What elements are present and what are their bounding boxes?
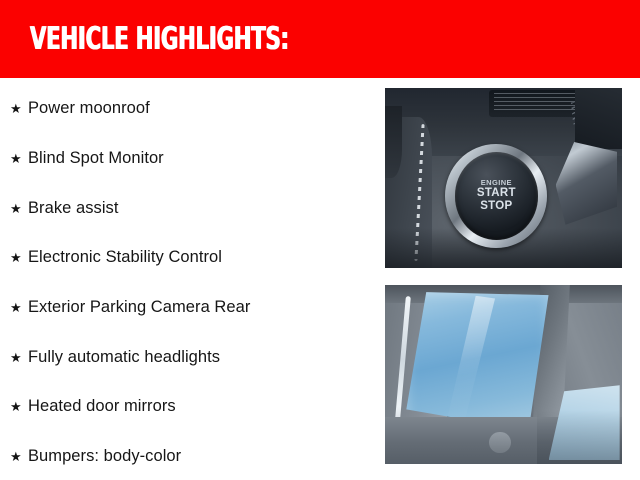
- list-item-label: Blind Spot Monitor: [28, 148, 164, 168]
- vehicle-highlights-list: ★ Power moonroof ★ Blind Spot Monitor ★ …: [0, 78, 385, 480]
- button-label-start: START: [477, 187, 516, 200]
- list-item: ★ Electronic Stability Control: [10, 246, 222, 268]
- list-item-label: Bumpers: body-color: [28, 446, 181, 466]
- list-item-label: Power moonroof: [28, 98, 150, 118]
- list-item: ★ Heated door mirrors: [10, 395, 176, 417]
- star-bullet-icon: ★: [10, 152, 28, 165]
- star-bullet-icon: ★: [10, 251, 28, 264]
- list-item-label: Brake assist: [28, 198, 118, 218]
- list-item: ★ Exterior Parking Camera Rear: [10, 296, 250, 318]
- panel-shadow: [537, 410, 622, 464]
- star-bullet-icon: ★: [10, 400, 28, 413]
- button-label-engine: ENGINE: [481, 178, 512, 187]
- list-item-label: Exterior Parking Camera Rear: [28, 297, 250, 317]
- star-bullet-icon: ★: [10, 351, 28, 364]
- button-label-stop: STOP: [480, 200, 512, 213]
- star-bullet-icon: ★: [10, 301, 28, 314]
- dashboard-right-shadow: [575, 88, 622, 149]
- list-item-label: Heated door mirrors: [28, 396, 176, 416]
- photo-moonroof-interior: [385, 285, 622, 464]
- photo-content: ENGINE START STOP: [385, 88, 622, 268]
- list-item: ★ Power moonroof: [10, 97, 150, 119]
- header-banner: VEHICLE HIGHLIGHTS:: [0, 0, 640, 78]
- engine-start-stop-button[interactable]: ENGINE START STOP: [455, 152, 539, 240]
- list-item: ★ Blind Spot Monitor: [10, 147, 164, 169]
- star-bullet-icon: ★: [10, 102, 28, 115]
- star-bullet-icon: ★: [10, 202, 28, 215]
- photo-content: [385, 285, 622, 464]
- dome-light-recess: [489, 432, 510, 453]
- star-bullet-icon: ★: [10, 450, 28, 463]
- dashboard-left-shadow: [385, 106, 402, 178]
- start-button-chrome-ring: ENGINE START STOP: [445, 144, 547, 248]
- list-item-label: Electronic Stability Control: [28, 247, 222, 267]
- photo-engine-start-stop-button: ENGINE START STOP: [385, 88, 622, 268]
- list-item: ★ Fully automatic headlights: [10, 346, 220, 368]
- page-title: VEHICLE HIGHLIGHTS:: [30, 23, 289, 56]
- list-item: ★ Brake assist: [10, 197, 118, 219]
- list-item: ★ Bumpers: body-color: [10, 445, 181, 467]
- list-item-label: Fully automatic headlights: [28, 347, 220, 367]
